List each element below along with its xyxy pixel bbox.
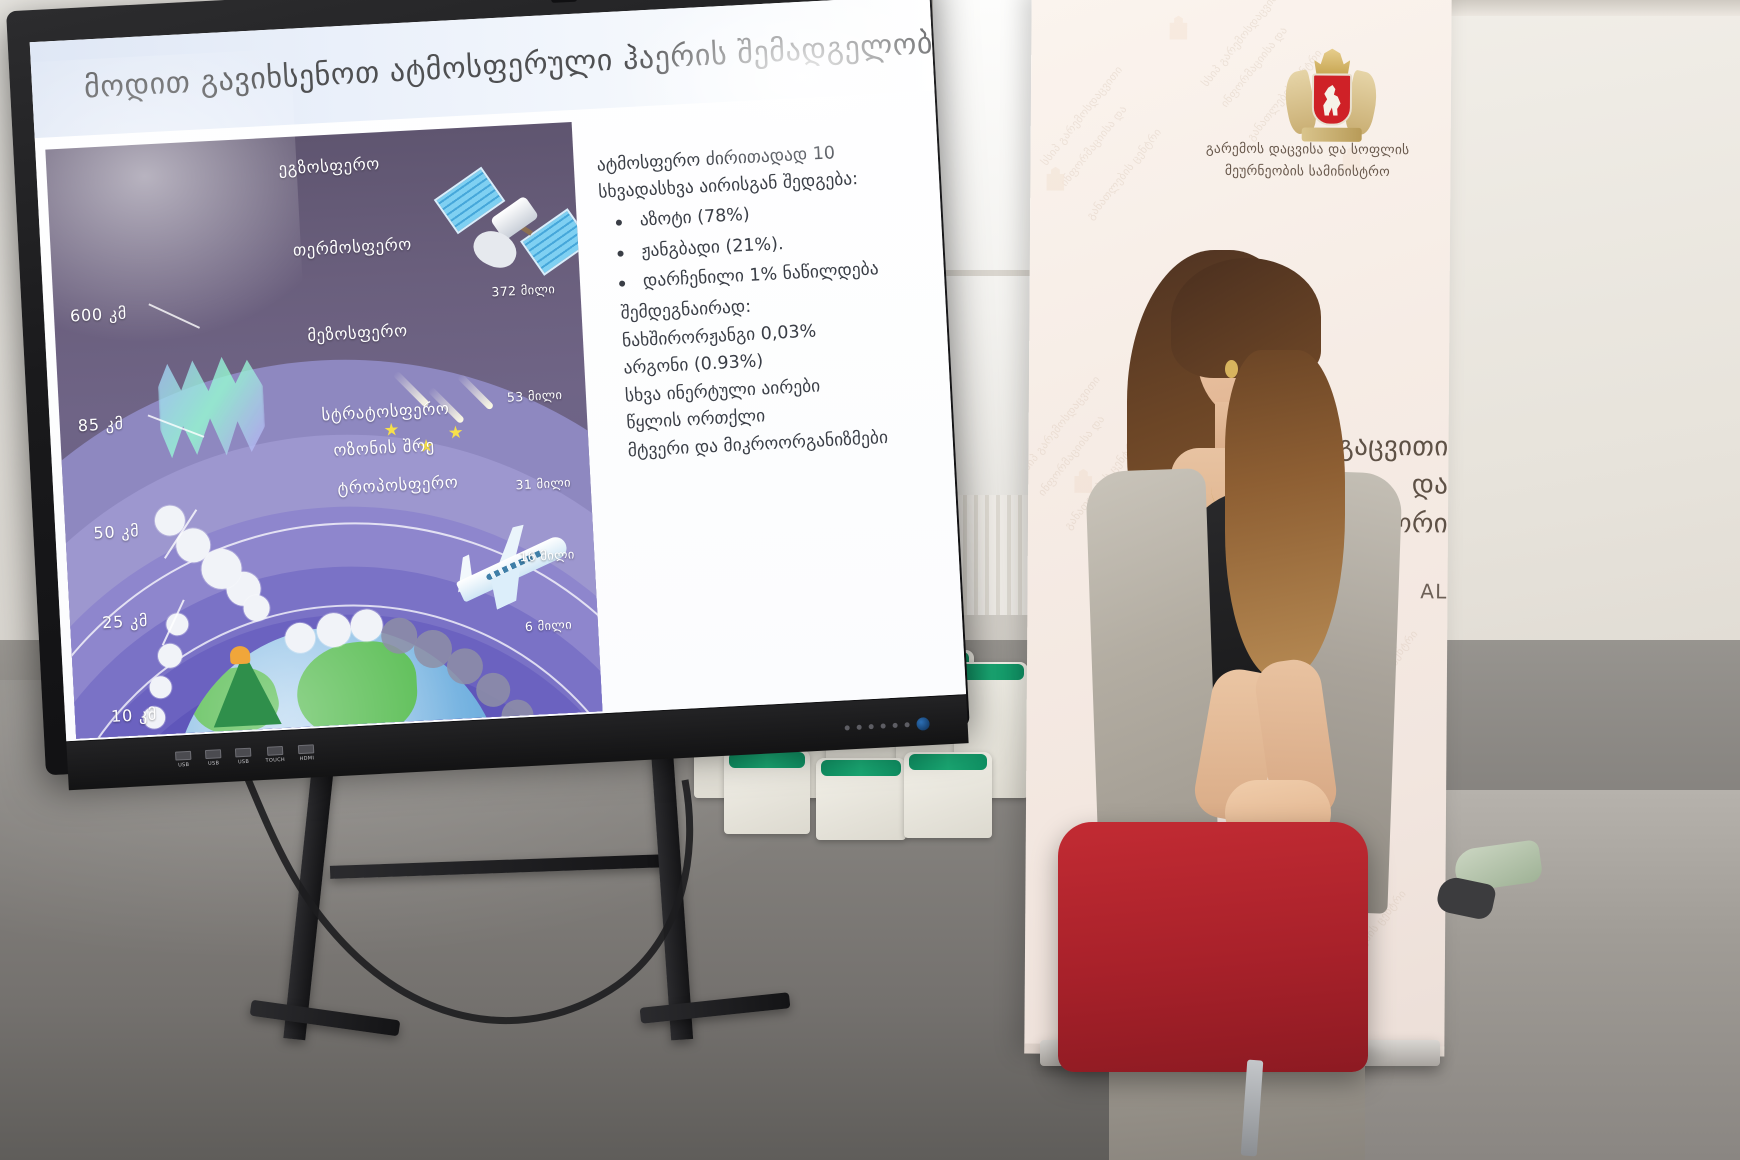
banner-ministry-name: გარემოს დაცვისა და სოფლის მეურნეობის სამ…: [1182, 138, 1432, 184]
layer-label-exosphere: ეგზოსფერო: [278, 154, 380, 178]
hair-side: [1225, 350, 1345, 680]
layer-label-thermosphere: თერმოსფერო: [292, 235, 412, 260]
hdmi-icon: [298, 744, 314, 754]
port-usb-1[interactable]: USB: [175, 751, 192, 769]
altitude-label-50km: 50 კმ: [93, 521, 140, 542]
altitude-label-25km: 25 კმ: [102, 611, 149, 632]
slide-body-text: ატმოსფერო ძირითადად 10 სხვადასხვა აირისგ…: [596, 135, 942, 466]
layer-label-mesosphere: მეზოსფერო: [307, 321, 408, 345]
body-bullet-list: აზოტი (78%) ჟანგბადი (21%). დარჩენილი 1%…: [599, 193, 933, 298]
red-chair: [1058, 822, 1368, 1072]
logo-glyph-icon: [1044, 167, 1066, 191]
usb-icon: [175, 751, 191, 761]
distance-label-53mi: 53 მილი: [507, 387, 563, 405]
presentation-slide: მოდით გავიხსენოთ ატმოსფერული ჰაერის შემა…: [30, 0, 966, 741]
altitude-label-10km: 10 კმ: [111, 705, 158, 726]
port-touch[interactable]: TOUCH: [265, 746, 285, 764]
volcano-icon: [178, 607, 304, 733]
earring: [1225, 360, 1238, 378]
interactive-display[interactable]: მოდით გავიხსენოთ ატმოსფერული ჰაერის შემა…: [0, 0, 996, 791]
display-camera: [550, 0, 577, 3]
distance-label-16mi: 16 მილი: [519, 546, 575, 564]
body-sub-lines: შემდეგნაირად: ნახშირორჟანგი 0,03% არგონი…: [604, 284, 942, 466]
port-usb-2[interactable]: USB: [205, 749, 222, 767]
touch-port-icon: [267, 746, 283, 756]
altitude-label-85km: 85 კმ: [77, 414, 124, 435]
georgia-coat-of-arms-icon: [1286, 45, 1377, 151]
port-usb-3[interactable]: USB: [235, 748, 252, 766]
altitude-label-600km: 600 კმ: [70, 304, 128, 326]
port-hdmi[interactable]: HDMI: [298, 744, 315, 762]
tote-bag: [724, 750, 810, 834]
distance-label-6mi: 6 მილი: [525, 617, 573, 634]
display-screen[interactable]: მოდით გავიხსენოთ ატმოსფერული ჰაერის შემა…: [30, 0, 966, 741]
slide-title-band: მოდით გავიხსენოთ ატმოსფერული ჰაერის შემა…: [30, 0, 935, 138]
display-bezel: მოდით გავიხსენოთ ატმოსფერული ჰაერის შემა…: [6, 0, 970, 775]
distance-label-31mi: 31 მილი: [515, 475, 571, 493]
atmosphere-diagram: ეგზოსფერო თერმოსფერო მეზოსფერო სტრატოსფე…: [45, 122, 602, 739]
room-scene: მოდით გავიხსენოთ ატმოსფერული ჰაერის შემა…: [0, 0, 1740, 1160]
tote-bag: [904, 752, 992, 838]
usb-icon: [205, 749, 221, 759]
usb-icon: [235, 748, 251, 758]
slide-title: მოდით გავიხსენოთ ატმოსფერული ჰაერის შემა…: [83, 25, 950, 105]
logo-glyph-icon: [1167, 15, 1189, 39]
tote-bag: [816, 758, 906, 840]
